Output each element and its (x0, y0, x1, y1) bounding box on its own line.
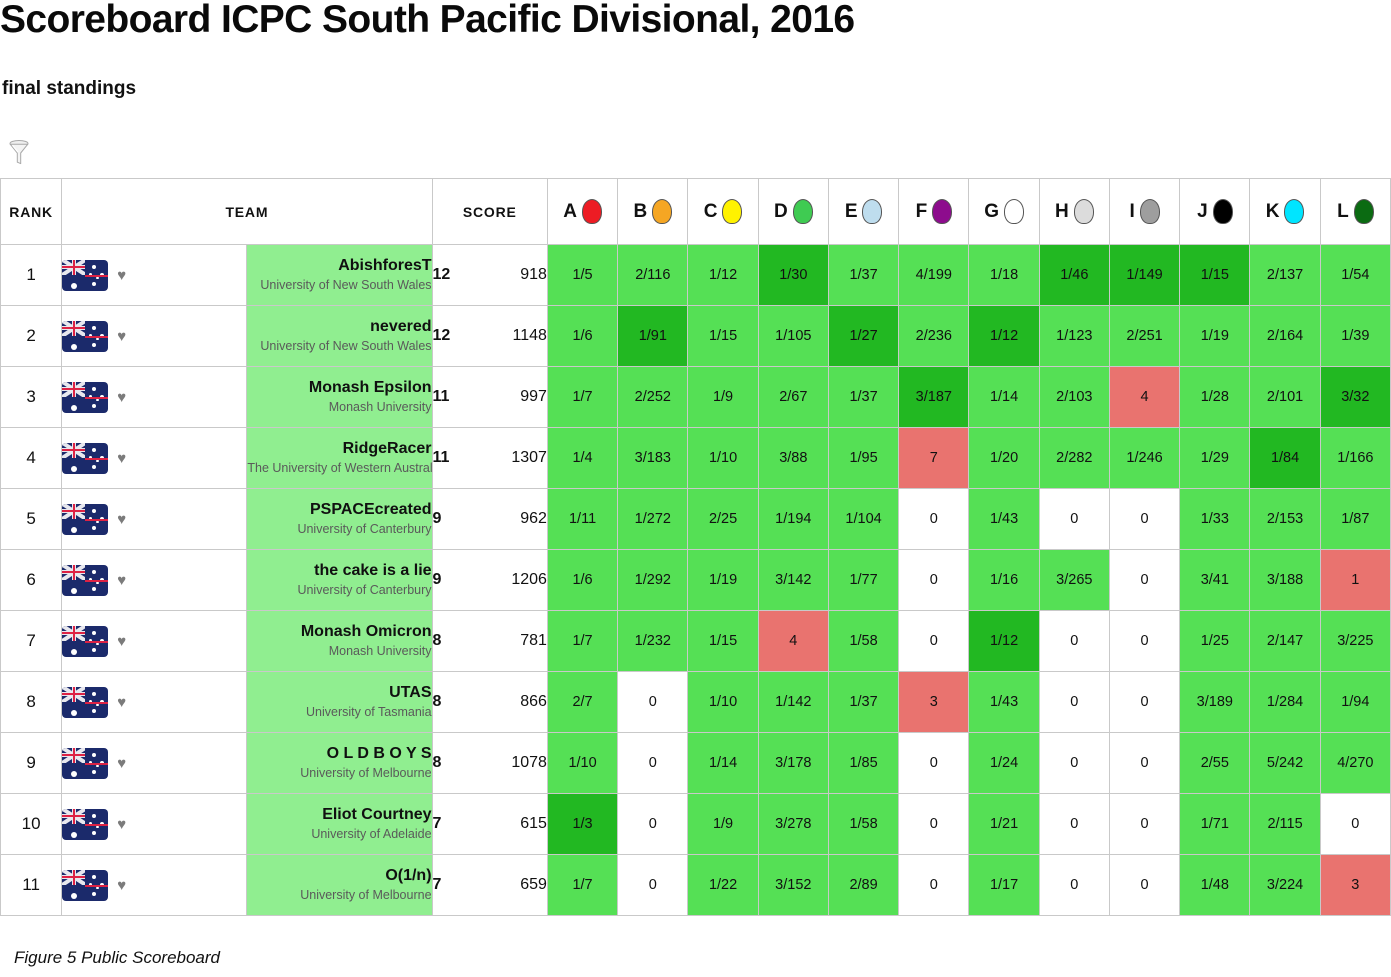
flag-australia-icon (62, 260, 108, 291)
problem-cell-f[interactable]: 0 (899, 611, 969, 672)
problem-cell-l[interactable]: 1/39 (1320, 306, 1390, 367)
penalty-time: 997 (520, 388, 547, 406)
flag-australia-icon (62, 748, 108, 779)
problem-cell-b[interactable]: 3/183 (618, 428, 688, 489)
problem-cell-g[interactable]: 1/43 (969, 489, 1039, 550)
problem-cell-h[interactable]: 0 (1039, 611, 1109, 672)
problem-cell-k[interactable]: 2/101 (1250, 367, 1320, 428)
problem-cell-i[interactable]: 0 (1109, 733, 1179, 794)
score-cell: 121148 (432, 306, 547, 367)
problem-cell-i[interactable]: 1/246 (1109, 428, 1179, 489)
favorite-heart-icon[interactable]: ♥ (117, 451, 126, 466)
table-row[interactable]: 6♥the cake is a lieUniversity of Canterb… (1, 550, 1391, 611)
table-row[interactable]: 10♥Eliot CourtneyUniversity of Adelaide7… (1, 794, 1391, 855)
problem-letter-d: D (774, 201, 789, 223)
table-row[interactable]: 1♥AbishforesTUniversity of New South Wal… (1, 245, 1391, 306)
table-row[interactable]: 9♥O L D B O Y SUniversity of Melbourne81… (1, 733, 1391, 794)
solved-count: 9 (433, 571, 442, 589)
problem-letter-h: H (1055, 201, 1070, 223)
problem-cell-f[interactable]: 0 (899, 794, 969, 855)
problem-cell-e[interactable]: 2/89 (828, 855, 898, 916)
rank-cell: 5 (1, 489, 62, 550)
balloon-gray-icon (1140, 199, 1160, 224)
flag-australia-icon (62, 687, 108, 718)
problem-cell-e[interactable]: 1/77 (828, 550, 898, 611)
team-cell[interactable]: RidgeRacerThe University of Western Aust… (247, 428, 432, 489)
filter-funnel-icon[interactable] (8, 139, 30, 165)
problem-cell-c[interactable]: 1/14 (688, 733, 758, 794)
penalty-time: 1307 (511, 449, 547, 467)
scoreboard-table-container: RANK TEAM SCORE A B (0, 178, 1391, 916)
problem-cell-i[interactable]: 0 (1109, 794, 1179, 855)
problem-cell-e[interactable]: 1/58 (828, 794, 898, 855)
problem-cell-g[interactable]: 1/24 (969, 733, 1039, 794)
column-header-problem-a[interactable]: A (547, 179, 617, 245)
problem-cell-d[interactable]: 3/278 (758, 794, 828, 855)
flag-cell: ♥ (62, 550, 247, 611)
table-row[interactable]: 5♥PSPACEcreatedUniversity of Canterbury9… (1, 489, 1391, 550)
problem-cell-a[interactable]: 2/7 (547, 672, 617, 733)
score-cell: 8781 (432, 611, 547, 672)
problem-letter-a: A (563, 201, 578, 223)
team-institution: University of Melbourne (247, 767, 431, 781)
column-header-problem-k[interactable]: K (1250, 179, 1320, 245)
rank-cell: 11 (1, 855, 62, 916)
favorite-heart-icon[interactable]: ♥ (117, 756, 126, 771)
problem-cell-a[interactable]: 1/6 (547, 550, 617, 611)
score-cell: 11997 (432, 367, 547, 428)
problem-cell-l[interactable]: 1/166 (1320, 428, 1390, 489)
problem-cell-j[interactable]: 1/28 (1180, 367, 1250, 428)
problem-cell-k[interactable]: 2/137 (1250, 245, 1320, 306)
balloon-cyan-icon (1284, 199, 1304, 224)
problem-cell-l[interactable]: 1 (1320, 550, 1390, 611)
problem-cell-b[interactable]: 0 (618, 672, 688, 733)
column-header-problem-i[interactable]: I (1109, 179, 1179, 245)
scoreboard-page: Scoreboard ICPC South Pacific Divisional… (0, 0, 1391, 977)
table-row[interactable]: 3♥Monash EpsilonMonash University119971/… (1, 367, 1391, 428)
problem-cell-b[interactable]: 0 (618, 855, 688, 916)
problem-cell-c[interactable]: 1/10 (688, 428, 758, 489)
problem-cell-f[interactable]: 7 (899, 428, 969, 489)
problem-cell-c[interactable]: 1/15 (688, 611, 758, 672)
balloon-lightgray-icon (1074, 199, 1094, 224)
problem-cell-l[interactable]: 3/32 (1320, 367, 1390, 428)
penalty-time: 918 (520, 266, 547, 284)
team-name: nevered (247, 318, 431, 336)
team-cell[interactable]: UTASUniversity of Tasmania (247, 672, 432, 733)
problem-cell-a[interactable]: 1/7 (547, 611, 617, 672)
problem-cell-i[interactable]: 1/149 (1109, 245, 1179, 306)
problem-cell-a[interactable]: 1/3 (547, 794, 617, 855)
solved-count: 8 (433, 693, 442, 711)
column-header-problem-l[interactable]: L (1320, 179, 1390, 245)
problem-cell-a[interactable]: 1/7 (547, 855, 617, 916)
score-cell: 12918 (432, 245, 547, 306)
favorite-heart-icon[interactable]: ♥ (117, 695, 126, 710)
solved-count: 12 (433, 327, 451, 345)
problem-cell-d[interactable]: 1/142 (758, 672, 828, 733)
balloon-green-icon (793, 199, 813, 224)
penalty-time: 1078 (511, 754, 547, 772)
team-institution: University of Melbourne (247, 889, 431, 903)
problem-cell-h[interactable]: 3/265 (1039, 550, 1109, 611)
problem-cell-e[interactable]: 1/37 (828, 367, 898, 428)
score-cell: 9962 (432, 489, 547, 550)
problem-cell-d[interactable]: 2/67 (758, 367, 828, 428)
flag-australia-icon (62, 809, 108, 840)
problem-cell-c[interactable]: 1/9 (688, 367, 758, 428)
problem-cell-f[interactable]: 0 (899, 733, 969, 794)
solved-count: 9 (433, 510, 442, 528)
problem-cell-k[interactable]: 2/153 (1250, 489, 1320, 550)
table-row[interactable]: 4♥RidgeRacerThe University of Western Au… (1, 428, 1391, 489)
favorite-heart-icon[interactable]: ♥ (117, 573, 126, 588)
problem-cell-j[interactable]: 1/15 (1180, 245, 1250, 306)
solved-count: 8 (433, 632, 442, 650)
score-cell: 81078 (432, 733, 547, 794)
problem-letter-k: K (1266, 201, 1281, 223)
page-title: Scoreboard ICPC South Pacific Divisional… (0, 0, 855, 42)
problem-cell-c[interactable]: 2/25 (688, 489, 758, 550)
problem-cell-c[interactable]: 1/19 (688, 550, 758, 611)
rank-cell: 1 (1, 245, 62, 306)
problem-cell-j[interactable]: 1/33 (1180, 489, 1250, 550)
problem-cell-h[interactable]: 1/123 (1039, 306, 1109, 367)
solved-count: 8 (433, 754, 442, 772)
problem-cell-k[interactable]: 1/84 (1250, 428, 1320, 489)
solved-count: 11 (433, 388, 450, 406)
problem-cell-e[interactable]: 1/58 (828, 611, 898, 672)
rank-cell: 7 (1, 611, 62, 672)
problem-cell-k[interactable]: 3/224 (1250, 855, 1320, 916)
team-institution: University of Canterbury (247, 523, 431, 537)
problem-cell-f[interactable]: 0 (899, 855, 969, 916)
problem-cell-a[interactable]: 1/7 (547, 367, 617, 428)
balloon-red-icon (582, 199, 602, 224)
problem-cell-b[interactable]: 1/292 (618, 550, 688, 611)
problem-cell-k[interactable]: 2/164 (1250, 306, 1320, 367)
favorite-heart-icon[interactable]: ♥ (117, 512, 126, 527)
team-cell[interactable]: O(1/n)University of Melbourne (247, 855, 432, 916)
flag-australia-icon (62, 504, 108, 535)
problem-cell-f[interactable]: 0 (899, 489, 969, 550)
problem-cell-d[interactable]: 1/105 (758, 306, 828, 367)
penalty-time: 866 (520, 693, 547, 711)
penalty-time: 615 (520, 815, 547, 833)
penalty-time: 659 (520, 876, 547, 894)
team-institution: University of New South Wales (247, 279, 431, 293)
table-row[interactable]: 7♥Monash OmicronMonash University87811/7… (1, 611, 1391, 672)
team-institution: University of Canterbury (247, 584, 431, 598)
team-cell[interactable]: Monash EpsilonMonash University (247, 367, 432, 428)
problem-cell-f[interactable]: 2/236 (899, 306, 969, 367)
team-institution: Monash University (247, 645, 431, 659)
problem-cell-e[interactable]: 1/37 (828, 672, 898, 733)
team-institution: Monash University (247, 401, 431, 415)
team-cell[interactable]: neveredUniversity of New South Wales (247, 306, 432, 367)
flag-australia-icon (62, 382, 108, 413)
problem-letter-b: B (634, 201, 649, 223)
flag-cell: ♥ (62, 489, 247, 550)
problem-cell-f[interactable]: 4/199 (899, 245, 969, 306)
score-cell: 111307 (432, 428, 547, 489)
problem-cell-a[interactable]: 1/10 (547, 733, 617, 794)
column-header-score[interactable]: SCORE (432, 179, 547, 245)
problem-cell-a[interactable]: 1/11 (547, 489, 617, 550)
problem-cell-h[interactable]: 0 (1039, 672, 1109, 733)
team-name: RidgeRacer (247, 440, 431, 458)
problem-letter-e: E (845, 201, 858, 223)
problem-cell-g[interactable]: 1/16 (969, 550, 1039, 611)
balloon-darkgreen-icon (1354, 199, 1374, 224)
problem-cell-h[interactable]: 0 (1039, 855, 1109, 916)
flag-australia-icon (62, 443, 108, 474)
team-cell[interactable]: O L D B O Y SUniversity of Melbourne (247, 733, 432, 794)
problem-cell-e[interactable]: 1/27 (828, 306, 898, 367)
problem-cell-k[interactable]: 5/242 (1250, 733, 1320, 794)
scoreboard-table: RANK TEAM SCORE A B (0, 178, 1391, 916)
problem-cell-i[interactable]: 0 (1109, 489, 1179, 550)
team-name: Eliot Courtney (247, 806, 431, 824)
team-cell[interactable]: Monash OmicronMonash University (247, 611, 432, 672)
problem-cell-i[interactable]: 4 (1109, 367, 1179, 428)
table-body: 1♥AbishforesTUniversity of New South Wal… (1, 245, 1391, 916)
balloon-orange-icon (652, 199, 672, 224)
balloon-lightblue-icon (862, 199, 882, 224)
balloon-purple-icon (932, 199, 952, 224)
team-institution: University of Tasmania (247, 706, 431, 720)
favorite-heart-icon[interactable]: ♥ (117, 390, 126, 405)
problem-letter-c: C (704, 201, 719, 223)
score-cell: 7659 (432, 855, 547, 916)
column-header-problem-j[interactable]: J (1180, 179, 1250, 245)
problem-cell-h[interactable]: 2/282 (1039, 428, 1109, 489)
problem-letter-f: F (916, 201, 928, 223)
problem-cell-b[interactable]: 1/272 (618, 489, 688, 550)
problem-cell-b[interactable]: 2/116 (618, 245, 688, 306)
problem-cell-g[interactable]: 1/12 (969, 306, 1039, 367)
problem-cell-j[interactable]: 3/41 (1180, 550, 1250, 611)
flag-cell: ♥ (62, 428, 247, 489)
problem-cell-j[interactable]: 1/48 (1180, 855, 1250, 916)
problem-cell-l[interactable]: 3/225 (1320, 611, 1390, 672)
balloon-white-icon (1004, 199, 1024, 224)
team-name: AbishforesT (247, 257, 431, 275)
penalty-time: 1148 (513, 327, 547, 345)
problem-letter-j: J (1197, 201, 1208, 223)
problem-cell-j[interactable]: 1/29 (1180, 428, 1250, 489)
team-name: Monash Epsilon (247, 379, 431, 397)
problem-cell-l[interactable]: 4/270 (1320, 733, 1390, 794)
balloon-yellow-icon (722, 199, 742, 224)
column-header-problem-f[interactable]: F (899, 179, 969, 245)
header-row: RANK TEAM SCORE A B (1, 179, 1391, 245)
team-institution: University of Adelaide (247, 828, 431, 842)
flag-cell: ♥ (62, 245, 247, 306)
solved-count: 12 (433, 266, 451, 284)
penalty-time: 962 (520, 510, 547, 528)
rank-cell: 3 (1, 367, 62, 428)
column-header-rank[interactable]: RANK (1, 179, 62, 245)
problem-cell-k[interactable]: 2/147 (1250, 611, 1320, 672)
problem-cell-f[interactable]: 0 (899, 550, 969, 611)
problem-cell-i[interactable]: 0 (1109, 611, 1179, 672)
rank-cell: 4 (1, 428, 62, 489)
problem-letter-l: L (1337, 201, 1349, 223)
problem-cell-f[interactable]: 3 (899, 672, 969, 733)
table-row[interactable]: 2♥neveredUniversity of New South Wales12… (1, 306, 1391, 367)
rank-cell: 6 (1, 550, 62, 611)
problem-cell-k[interactable]: 3/188 (1250, 550, 1320, 611)
problem-cell-d[interactable]: 3/142 (758, 550, 828, 611)
favorite-heart-icon[interactable]: ♥ (117, 329, 126, 344)
problem-cell-k[interactable]: 2/115 (1250, 794, 1320, 855)
penalty-time: 781 (520, 632, 547, 650)
team-cell[interactable]: the cake is a lieUniversity of Canterbur… (247, 550, 432, 611)
problem-cell-g[interactable]: 1/12 (969, 611, 1039, 672)
team-name: O(1/n) (247, 867, 431, 885)
problem-letter-g: G (984, 201, 1000, 223)
flag-australia-icon (62, 626, 108, 657)
problem-cell-b[interactable]: 1/91 (618, 306, 688, 367)
table-header: RANK TEAM SCORE A B (1, 179, 1391, 245)
solved-count: 7 (433, 876, 442, 894)
favorite-heart-icon[interactable]: ♥ (117, 878, 126, 893)
problem-cell-h[interactable]: 1/46 (1039, 245, 1109, 306)
rank-cell: 2 (1, 306, 62, 367)
problem-cell-d[interactable]: 3/152 (758, 855, 828, 916)
problem-cell-i[interactable]: 0 (1109, 550, 1179, 611)
problem-cell-g[interactable]: 1/21 (969, 794, 1039, 855)
problem-cell-b[interactable]: 0 (618, 794, 688, 855)
problem-cell-d[interactable]: 1/30 (758, 245, 828, 306)
score-cell: 7615 (432, 794, 547, 855)
team-cell[interactable]: AbishforesTUniversity of New South Wales (247, 245, 432, 306)
table-row[interactable]: 8♥UTASUniversity of Tasmania88662/701/10… (1, 672, 1391, 733)
problem-cell-i[interactable]: 0 (1109, 855, 1179, 916)
problem-cell-i[interactable]: 0 (1109, 672, 1179, 733)
problem-letter-i: I (1130, 201, 1136, 223)
problem-cell-b[interactable]: 0 (618, 733, 688, 794)
problem-cell-e[interactable]: 1/37 (828, 245, 898, 306)
problem-cell-l[interactable]: 1/94 (1320, 672, 1390, 733)
problem-cell-j[interactable]: 1/25 (1180, 611, 1250, 672)
flag-cell: ♥ (62, 794, 247, 855)
problem-cell-k[interactable]: 1/284 (1250, 672, 1320, 733)
table-row[interactable]: 11♥O(1/n)University of Melbourne76591/70… (1, 855, 1391, 916)
team-name: the cake is a lie (247, 562, 431, 580)
problem-cell-c[interactable]: 1/12 (688, 245, 758, 306)
problem-cell-j[interactable]: 2/55 (1180, 733, 1250, 794)
problem-cell-l[interactable]: 0 (1320, 794, 1390, 855)
problem-cell-b[interactable]: 1/232 (618, 611, 688, 672)
problem-cell-g[interactable]: 1/43 (969, 672, 1039, 733)
favorite-heart-icon[interactable]: ♥ (117, 268, 126, 283)
problem-cell-c[interactable]: 1/22 (688, 855, 758, 916)
favorite-heart-icon[interactable]: ♥ (117, 817, 126, 832)
penalty-time: 1206 (511, 571, 547, 589)
problem-cell-j[interactable]: 1/19 (1180, 306, 1250, 367)
solved-count: 11 (433, 449, 450, 467)
score-cell: 8866 (432, 672, 547, 733)
problem-cell-h[interactable]: 0 (1039, 489, 1109, 550)
rank-cell: 10 (1, 794, 62, 855)
problem-cell-e[interactable]: 1/104 (828, 489, 898, 550)
problem-cell-h[interactable]: 0 (1039, 733, 1109, 794)
problem-cell-g[interactable]: 1/14 (969, 367, 1039, 428)
team-institution: University of New South Wales (247, 340, 431, 354)
team-name: Monash Omicron (247, 623, 431, 641)
problem-cell-a[interactable]: 1/4 (547, 428, 617, 489)
problem-cell-l[interactable]: 1/87 (1320, 489, 1390, 550)
flag-cell: ♥ (62, 611, 247, 672)
problem-cell-b[interactable]: 2/252 (618, 367, 688, 428)
team-cell[interactable]: Eliot CourtneyUniversity of Adelaide (247, 794, 432, 855)
problem-cell-d[interactable]: 3/178 (758, 733, 828, 794)
column-header-problem-b[interactable]: B (618, 179, 688, 245)
favorite-heart-icon[interactable]: ♥ (117, 634, 126, 649)
column-header-problem-d[interactable]: D (758, 179, 828, 245)
problem-cell-e[interactable]: 1/85 (828, 733, 898, 794)
team-institution: The University of Western Australia (247, 462, 431, 476)
problem-cell-d[interactable]: 4 (758, 611, 828, 672)
problem-cell-d[interactable]: 3/88 (758, 428, 828, 489)
team-name: UTAS (247, 684, 431, 702)
column-header-problem-c[interactable]: C (688, 179, 758, 245)
problem-cell-c[interactable]: 1/10 (688, 672, 758, 733)
problem-cell-j[interactable]: 3/189 (1180, 672, 1250, 733)
problem-cell-j[interactable]: 1/71 (1180, 794, 1250, 855)
column-header-problem-e[interactable]: E (828, 179, 898, 245)
problem-cell-i[interactable]: 2/251 (1109, 306, 1179, 367)
flag-cell: ♥ (62, 672, 247, 733)
flag-australia-icon (62, 565, 108, 596)
problem-cell-a[interactable]: 1/6 (547, 306, 617, 367)
column-header-problem-h[interactable]: H (1039, 179, 1109, 245)
problem-cell-l[interactable]: 3 (1320, 855, 1390, 916)
problem-cell-e[interactable]: 1/95 (828, 428, 898, 489)
flag-cell: ♥ (62, 855, 247, 916)
team-cell[interactable]: PSPACEcreatedUniversity of Canterbury (247, 489, 432, 550)
problem-cell-g[interactable]: 1/17 (969, 855, 1039, 916)
problem-cell-h[interactable]: 2/103 (1039, 367, 1109, 428)
problem-cell-g[interactable]: 1/20 (969, 428, 1039, 489)
flag-cell: ♥ (62, 306, 247, 367)
problem-cell-h[interactable]: 0 (1039, 794, 1109, 855)
flag-cell: ♥ (62, 367, 247, 428)
figure-caption: Figure 5 Public Scoreboard (14, 948, 220, 968)
flag-australia-icon (62, 321, 108, 352)
problem-cell-c[interactable]: 1/9 (688, 794, 758, 855)
column-header-problem-g[interactable]: G (969, 179, 1039, 245)
flag-cell: ♥ (62, 733, 247, 794)
page-subtitle: final standings (2, 78, 136, 100)
problem-cell-g[interactable]: 1/18 (969, 245, 1039, 306)
problem-cell-a[interactable]: 1/5 (547, 245, 617, 306)
problem-cell-c[interactable]: 1/15 (688, 306, 758, 367)
problem-cell-f[interactable]: 3/187 (899, 367, 969, 428)
balloon-black-icon (1213, 199, 1233, 224)
flag-australia-icon (62, 870, 108, 901)
rank-cell: 8 (1, 672, 62, 733)
problem-cell-l[interactable]: 1/54 (1320, 245, 1390, 306)
problem-cell-d[interactable]: 1/194 (758, 489, 828, 550)
solved-count: 7 (433, 815, 442, 833)
team-name: PSPACEcreated (247, 501, 431, 519)
rank-cell: 9 (1, 733, 62, 794)
column-header-team[interactable]: TEAM (62, 179, 432, 245)
